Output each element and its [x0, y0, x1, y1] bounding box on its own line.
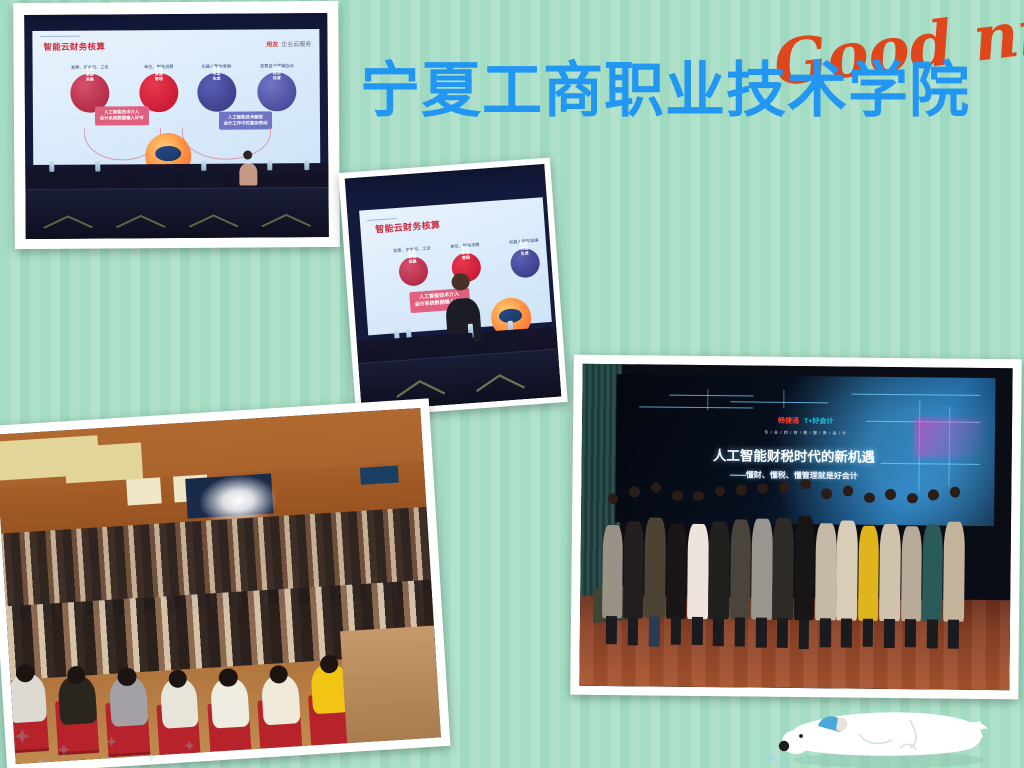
water-bottle [201, 159, 206, 170]
led-brand-sub: 专 / 业 / 的 / 财 / 税 / 服 / 务 / 会 / 计 [764, 430, 847, 437]
group-person [730, 484, 752, 619]
slide-bubble-4-label: 智能 核对 核查 [273, 65, 281, 80]
slide-logo-sub: 企业云服务 [281, 42, 311, 48]
group-person [836, 486, 858, 621]
photo-image-group: 畅捷通T+好会计 专 / 业 / 的 / 财 / 税 / 服 / 务 / 会 /… [579, 364, 1012, 690]
slide-bubble-1-label: 智能 票据 采集 [408, 249, 417, 265]
slide-logo: 用友企业云服务 [266, 39, 311, 48]
led-streak [670, 395, 753, 397]
slide-bubble-3: 智能 凭证 生成 [510, 248, 542, 280]
slide-logo-brand: 用友 [266, 42, 278, 48]
group-person [687, 490, 709, 619]
group-person [815, 489, 837, 621]
slide-bubble-3: 智能 凭证 生成 [197, 73, 236, 112]
group-person [772, 482, 794, 621]
chair [77, 169, 113, 189]
slide-title: 智能云财务核算 [375, 218, 441, 236]
table-front-pattern [26, 208, 329, 233]
wall-panel [126, 477, 162, 505]
slide-box-1: 人工智能技术介入 会计系统数据输入环节 [95, 106, 149, 125]
group-person [708, 486, 730, 620]
stage-scene: 畅捷通T+好会计 专 / 业 / 的 / 财 / 税 / 服 / 务 / 会 /… [579, 364, 1012, 690]
person-body [239, 163, 257, 186]
water-bottle [49, 160, 54, 171]
slide-bubble-1-label: 智能 票据 采集 [86, 66, 94, 81]
group-person [922, 490, 944, 622]
page-title-group: Good night 宁夏工商职业技术学院 [360, 42, 1024, 128]
slide-title-rule [41, 36, 81, 37]
led-streak [851, 394, 980, 396]
group-person [666, 490, 688, 619]
group-person [879, 489, 901, 621]
slide-bubble-2-label: 智能 票据 管理 [155, 66, 163, 81]
led-brand-row: 畅捷通T+好会计 [778, 415, 833, 426]
slide-bubble-3-label: 智能 凭证 生成 [212, 66, 220, 81]
water-bottle [95, 160, 100, 171]
group-person [602, 493, 624, 619]
group-person [794, 479, 816, 621]
photo-image-slide: 智能云财务核算 用友企业云服务 发票、资金流、工资 单位、税会测算 机器人帮你准… [24, 13, 329, 239]
auditorium-scene [0, 408, 441, 764]
speaker-scene: 智能云财务核算 发票、资金流、工资 单位、税会测算 机器人帮你准确 智能 票据 … [345, 164, 562, 411]
led-brand: 畅捷通 [778, 417, 799, 424]
photo-image-speaker: 智能云财务核算 发票、资金流、工资 单位、税会测算 机器人帮你准确 智能 票据 … [345, 164, 562, 411]
presentation-slide-photo[interactable]: 智能云财务核算 用友企业云服务 发票、资金流、工资 单位、税会测算 机器人帮你准… [13, 1, 340, 249]
person-head [451, 272, 470, 291]
led-streak [707, 390, 708, 411]
chair [186, 168, 222, 188]
sleeping-polar-bear-icon [760, 690, 1010, 768]
audience-photo[interactable] [0, 398, 450, 768]
led-streak [639, 407, 753, 409]
group-person [623, 487, 645, 619]
slide-title: 智能云财务核算 [43, 40, 105, 52]
water-bottle [268, 159, 273, 170]
group-person [751, 483, 773, 620]
chair [140, 169, 176, 189]
slide-canvas: 智能云财务核算 用友企业云服务 发票、资金流、工资 单位、税会测算 机器人帮你准… [0, 0, 1024, 768]
projection-screen: 智能云财务核算 用友企业云服务 发票、资金流、工资 单位、税会测算 机器人帮你准… [32, 29, 321, 172]
group-photo[interactable]: 畅捷通T+好会计 专 / 业 / 的 / 财 / 税 / 服 / 务 / 会 /… [570, 355, 1022, 700]
led-streak [730, 402, 828, 404]
side-screen [360, 466, 399, 485]
aisle-steps [340, 625, 441, 743]
group-person [901, 493, 923, 622]
group-person [943, 487, 965, 622]
slide-bubble-2-label: 智能 票据 管理 [461, 245, 470, 261]
speaker-photo[interactable]: 智能云财务核算 发票、资金流、工资 单位、税会测算 机器人帮你准确 智能 票据 … [338, 158, 567, 418]
photo-image-audience [0, 408, 441, 764]
slide-bubble-1: 智能 票据 采集 [398, 256, 430, 288]
group-person [644, 482, 666, 619]
led-glow [915, 418, 984, 457]
page-title: 宁夏工商职业技术学院 [360, 42, 970, 129]
person-head [243, 150, 252, 159]
slide-bubble-4: 智能 核对 核查 [257, 73, 296, 112]
slide-content: 智能云财务核算 用友企业云服务 发票、资金流、工资 单位、税会测算 机器人帮你准… [24, 13, 329, 239]
led-streak [783, 390, 784, 408]
group-person [858, 492, 880, 621]
chair [34, 169, 70, 189]
led-brand-alt: T+好会计 [804, 418, 833, 425]
slide-title-rule [367, 218, 396, 221]
group-row [602, 457, 999, 622]
water-bottle [304, 159, 309, 170]
seated-person [237, 150, 258, 186]
slide-bubble-3-label: 智能 凭证 生成 [520, 241, 529, 257]
